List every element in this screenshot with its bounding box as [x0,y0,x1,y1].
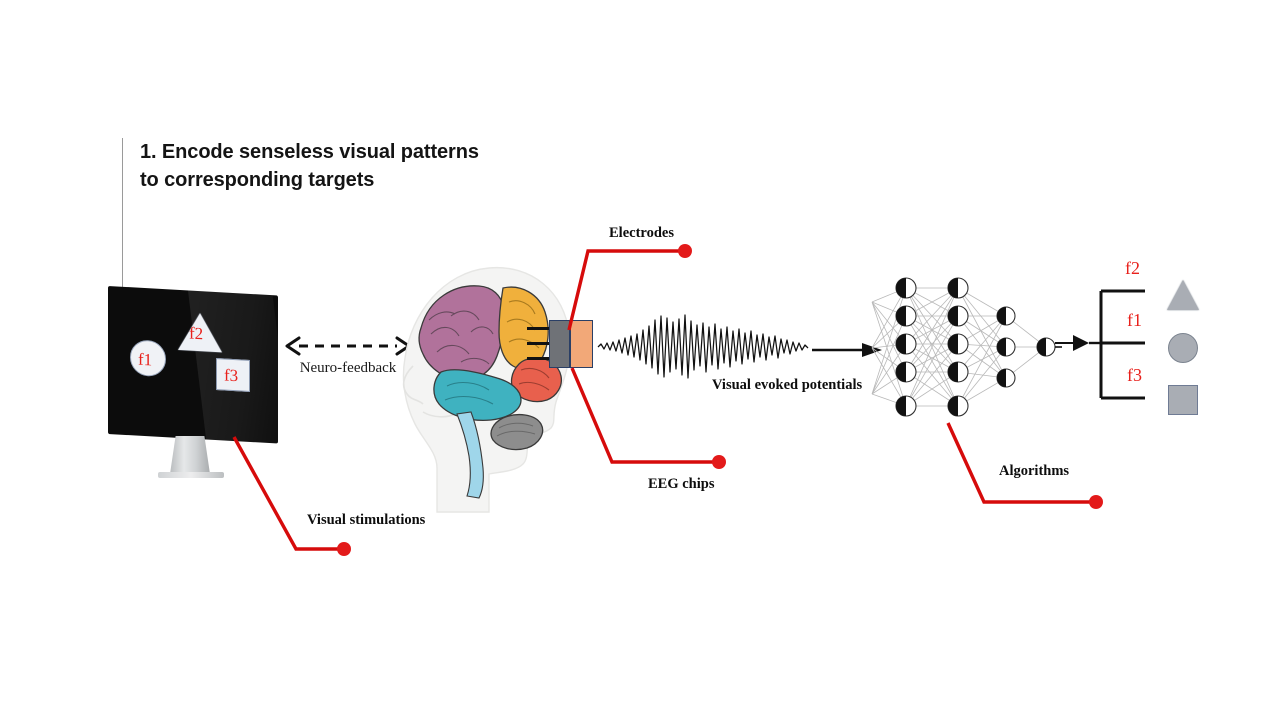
head-with-brain-illustration [393,262,593,512]
eeg-chip-face [570,320,593,368]
stimulus-square-label: f3 [224,366,238,384]
output-bracket [1055,258,1155,428]
stimulus-circle-label: f1 [138,351,152,369]
stimulus-circle: f1 [130,339,166,377]
leader-dot-algorithms [1089,495,1103,509]
leader-dot-eeg-chips [712,455,726,469]
electrode-lead-2 [527,342,549,345]
diagram-canvas: 1. Encode senseless visual patterns to c… [0,0,1280,720]
classification-output: f2 f1 f3 [1055,258,1225,428]
output-label-f2: f2 [1125,258,1140,279]
eeg-chip-body [549,320,570,368]
title-line-2: to corresponding targets [140,166,540,194]
page-title: 1. Encode senseless visual patterns to c… [140,138,540,195]
monitor-stand-base [158,472,224,478]
callout-label-eeg-chips: EEG chips [648,476,714,493]
leader-dot-electrodes [678,244,692,258]
neural-network-diagram [872,272,1062,424]
leader-dot-visual-stimulations [337,542,351,556]
output-label-f1: f1 [1127,310,1142,331]
stimulus-square: f3 [216,358,250,392]
output-shape-circle [1168,333,1198,363]
electrode-lead-3 [527,357,549,360]
output-shape-triangle [1167,280,1199,310]
monitor-stand-neck [170,436,210,474]
electrode-lead-1 [527,327,549,330]
title-accent-rule [122,138,123,298]
monitor-screen: f1 f2 f3 [108,286,278,444]
brain-cerebellum [491,415,543,450]
eeg-chip [549,320,593,368]
waveform-trace [598,315,808,378]
callout-label-visual-stimulations: Visual stimulations [307,512,425,529]
output-shape-square [1168,385,1198,415]
callout-label-algorithms: Algorithms [999,463,1069,480]
stimulus-triangle: f2 [178,312,222,352]
output-label-f3: f3 [1127,365,1142,386]
callout-label-electrodes: Electrodes [609,225,674,242]
stimulus-triangle-label: f2 [189,325,203,343]
stimulus-monitor: f1 f2 f3 [108,286,286,476]
title-line-1: 1. Encode senseless visual patterns [140,138,540,166]
eeg-waveform [598,306,808,386]
waveform-caption: Visual evoked potentials [712,377,862,394]
